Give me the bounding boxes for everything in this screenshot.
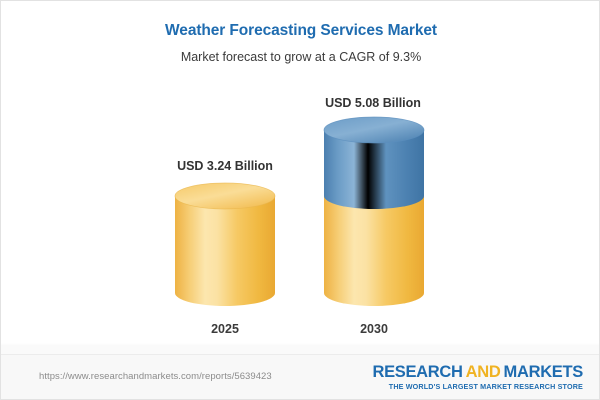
chart-plot-area: USD 3.24 Billion USD 5.08 Billion [1,1,600,354]
bar-cylinder-2030[interactable] [319,115,429,321]
value-label-2030: USD 5.08 Billion [273,96,473,110]
bar-cylinder-2025[interactable] [171,181,279,321]
logo-wordmark: RESEARCHANDMARKETS [372,363,583,381]
logo-tagline: THE WORLD'S LARGEST MARKET RESEARCH STOR… [372,382,583,391]
chart-footer: https://www.researchandmarkets.com/repor… [1,354,600,400]
report-url-link[interactable]: https://www.researchandmarkets.com/repor… [39,371,272,382]
value-label-2025: USD 3.24 Billion [125,159,325,173]
chart-card: Weather Forecasting Services Market Mark… [0,0,600,400]
category-label-2030: 2030 [274,322,474,336]
research-and-markets-logo[interactable]: RESEARCHANDMARKETS THE WORLD'S LARGEST M… [372,363,583,391]
logo-word-research: RESEARCH [372,363,462,381]
logo-word-and: AND [463,363,504,381]
logo-word-markets: MARKETS [504,363,583,381]
